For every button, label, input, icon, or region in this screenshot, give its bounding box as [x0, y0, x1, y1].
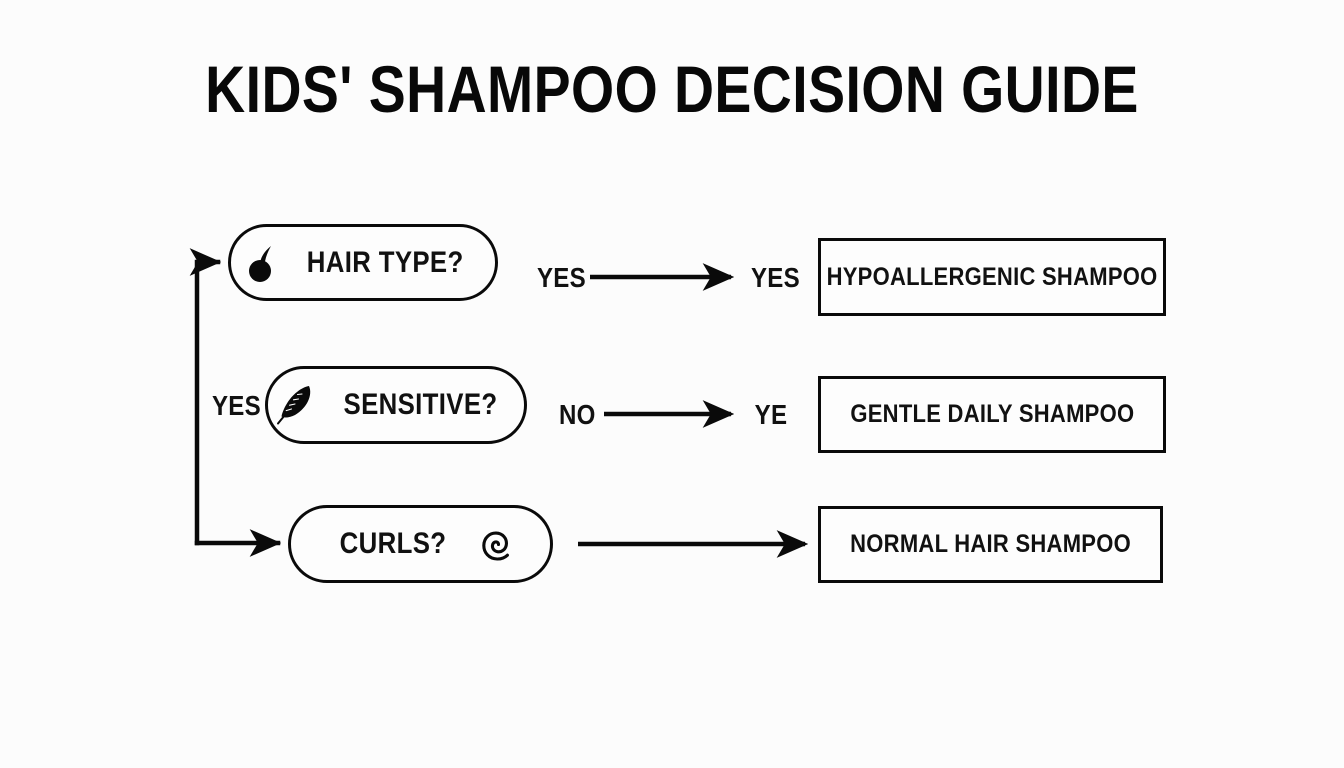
- result-box-normal-hair[interactable]: NORMAL HAIR SHAMPOO: [818, 506, 1163, 583]
- result-label-hypoallergenic: HYPOALLERGENIC SHAMPOO: [827, 265, 1158, 290]
- result-box-gentle-daily[interactable]: GENTLE DAILY SHAMPOO: [818, 376, 1166, 453]
- flame-icon: [244, 244, 278, 282]
- edge-label-row2-source: NO: [559, 401, 596, 429]
- edge-label-left-branch: YES: [212, 392, 261, 420]
- edge-label-row1-source: YES: [537, 264, 586, 292]
- feather-icon: [273, 382, 315, 428]
- decision-node-hair-type[interactable]: HAIR TYPE?: [228, 224, 498, 301]
- result-label-gentle-daily: GENTLE DAILY SHAMPOO: [850, 402, 1134, 427]
- decision-label-sensitive: SENSITIVE?: [344, 390, 498, 420]
- decision-label-curls: CURLS?: [340, 529, 447, 559]
- edge-label-row1-target: YES: [751, 264, 800, 292]
- spiral-icon: [472, 521, 518, 567]
- result-box-hypoallergenic[interactable]: HYPOALLERGENIC SHAMPOO: [818, 238, 1166, 316]
- result-label-normal-hair: NORMAL HAIR SHAMPOO: [850, 532, 1131, 557]
- decision-node-curls[interactable]: CURLS?: [288, 505, 553, 583]
- page-title: KIDS' SHAMPOO DECISION GUIDE: [108, 56, 1237, 122]
- decision-node-sensitive[interactable]: SENSITIVE?: [265, 366, 527, 444]
- decision-label-hair-type: HAIR TYPE?: [307, 248, 464, 278]
- edge-label-row2-target: YE: [755, 401, 788, 429]
- decision-guide-canvas: KIDS' SHAMPOO DECISION GUIDE YES --> YE …: [0, 0, 1344, 768]
